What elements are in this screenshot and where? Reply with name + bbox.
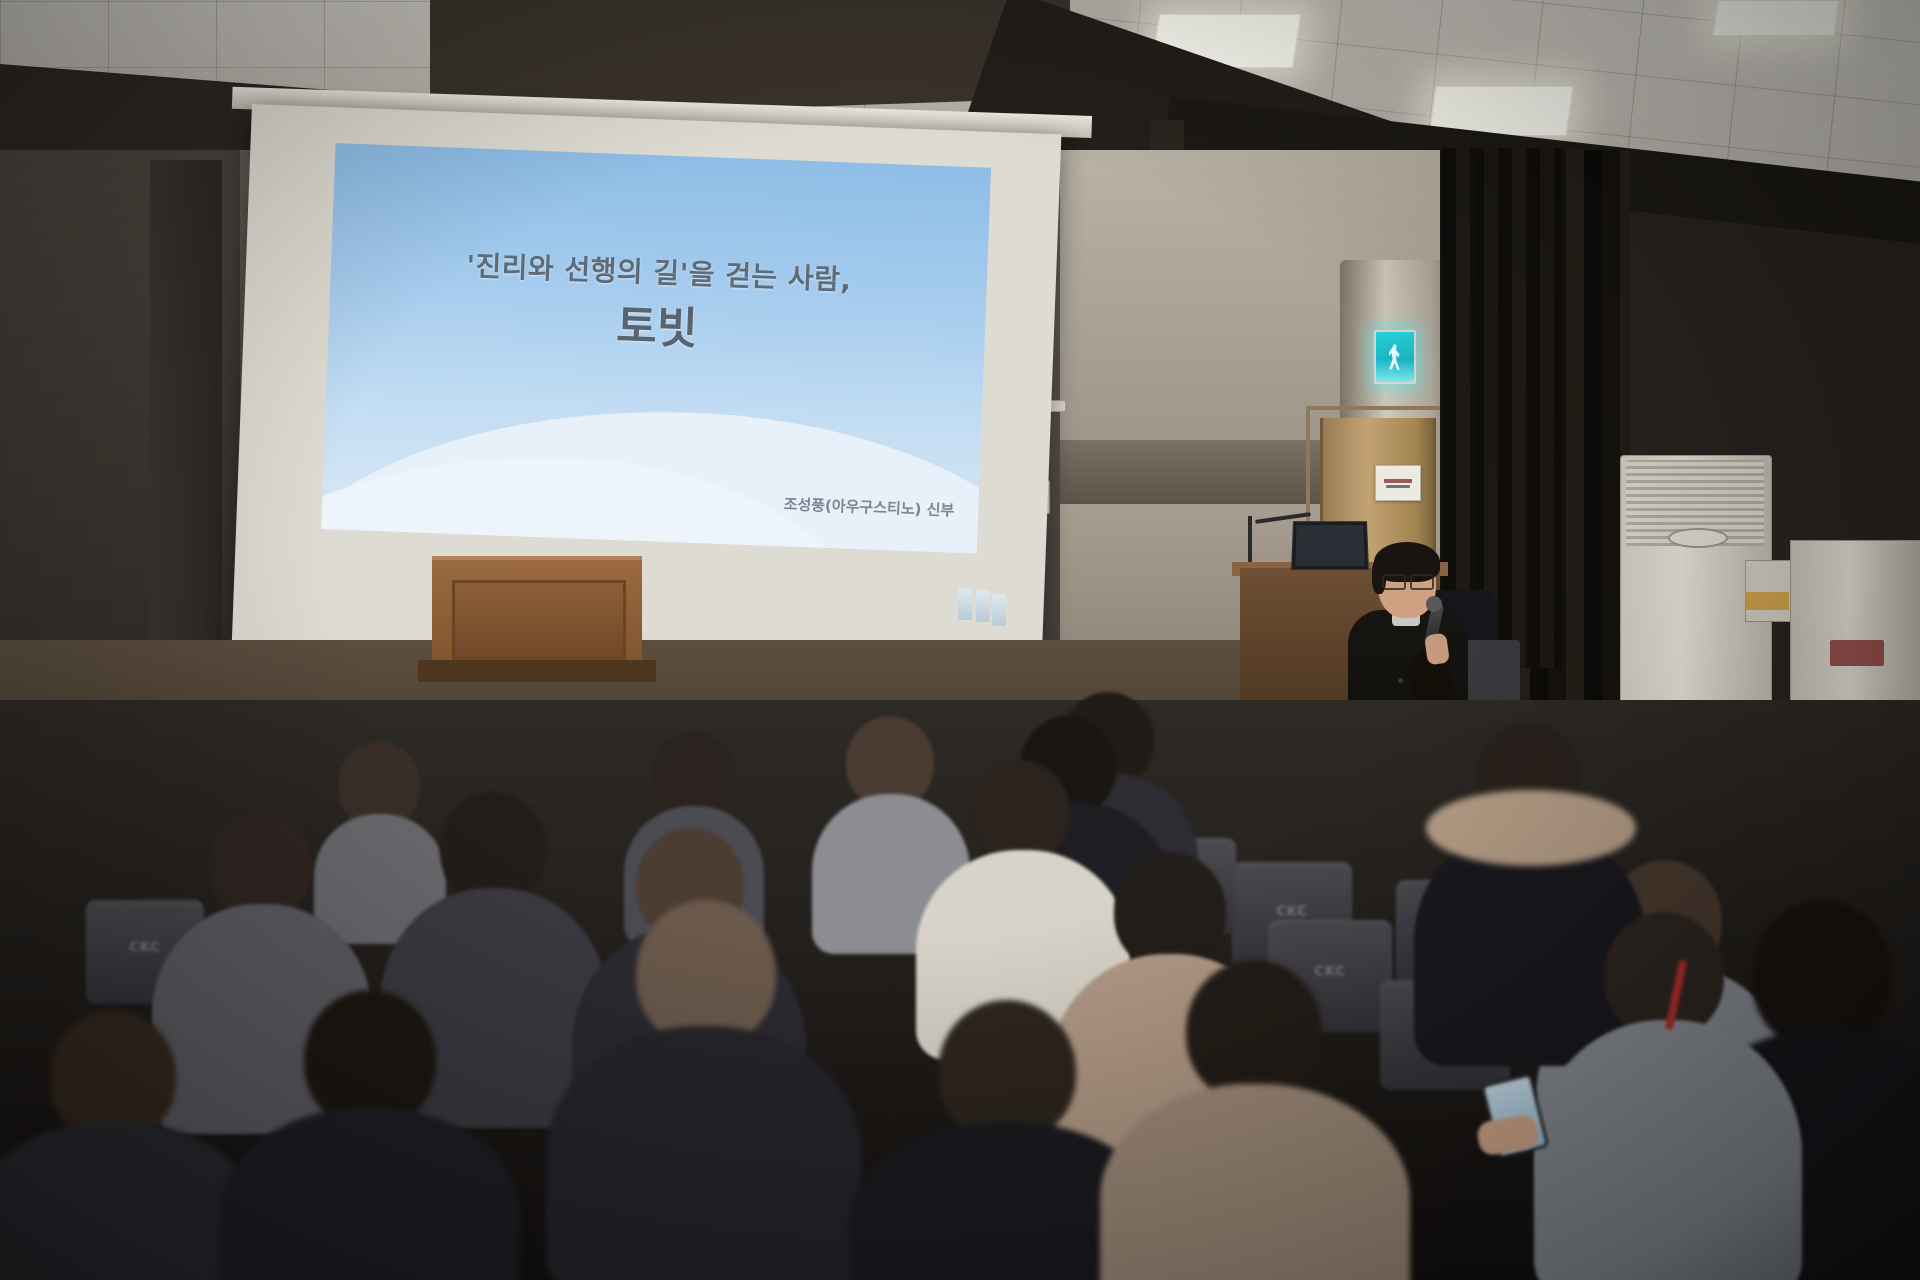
chair-logo: CKC bbox=[1276, 904, 1308, 919]
eyeglasses-icon bbox=[1410, 574, 1434, 590]
air-conditioner-vent bbox=[1668, 528, 1728, 548]
person-head bbox=[1114, 852, 1226, 970]
microphone-head bbox=[1426, 596, 1442, 612]
ceiling-light-panel bbox=[1712, 0, 1839, 36]
wall-control-panel[interactable] bbox=[1745, 560, 1791, 622]
audience-member bbox=[0, 1010, 230, 1280]
person-head bbox=[1186, 960, 1322, 1102]
person-body bbox=[220, 1108, 520, 1280]
audience-member bbox=[578, 900, 828, 1280]
door-placard bbox=[1375, 465, 1421, 501]
person-head bbox=[938, 1000, 1076, 1142]
fur-hood bbox=[1426, 790, 1636, 866]
presenter-hand bbox=[1424, 633, 1450, 666]
audience-member bbox=[1130, 960, 1380, 1280]
person-head bbox=[970, 760, 1070, 864]
audience-member bbox=[880, 1000, 1130, 1280]
audience-member-with-phone bbox=[1558, 912, 1768, 1280]
person-body bbox=[546, 1026, 862, 1280]
person-head bbox=[636, 900, 776, 1046]
podium-panel bbox=[452, 580, 626, 660]
warning-tape bbox=[1745, 592, 1789, 610]
air-conditioner-badge bbox=[1830, 640, 1884, 666]
presentation-slide: '진리와 선행의 길'을 걷는 사람, 토빗 조성풍(아우구스티노) 신부 bbox=[321, 143, 991, 553]
placard-text-line bbox=[1384, 479, 1412, 483]
wall-pillar bbox=[150, 160, 222, 720]
person-body bbox=[1100, 1084, 1410, 1280]
placard-text-line bbox=[1386, 485, 1410, 488]
audience-member bbox=[250, 990, 490, 1280]
auditorium-scene: '진리와 선행의 길'을 걷는 사람, 토빗 조성풍(아우구스티노) 신부 bbox=[0, 0, 1920, 1280]
chair-logo: CKC bbox=[129, 940, 161, 955]
water-bottle bbox=[976, 590, 990, 622]
water-bottle bbox=[992, 594, 1006, 626]
microphone-stand bbox=[1248, 516, 1252, 562]
person-body bbox=[1534, 1020, 1802, 1280]
person-head bbox=[1752, 900, 1892, 1050]
podium-base bbox=[418, 660, 656, 682]
water-bottle bbox=[958, 588, 972, 620]
projection-screen: '진리와 선행의 길'을 걷는 사람, 토빗 조성풍(아우구스티노) 신부 bbox=[231, 104, 1061, 694]
eyeglasses-icon bbox=[1382, 574, 1406, 590]
running-person-icon bbox=[1389, 344, 1402, 370]
exit-sign-icon bbox=[1374, 330, 1416, 384]
